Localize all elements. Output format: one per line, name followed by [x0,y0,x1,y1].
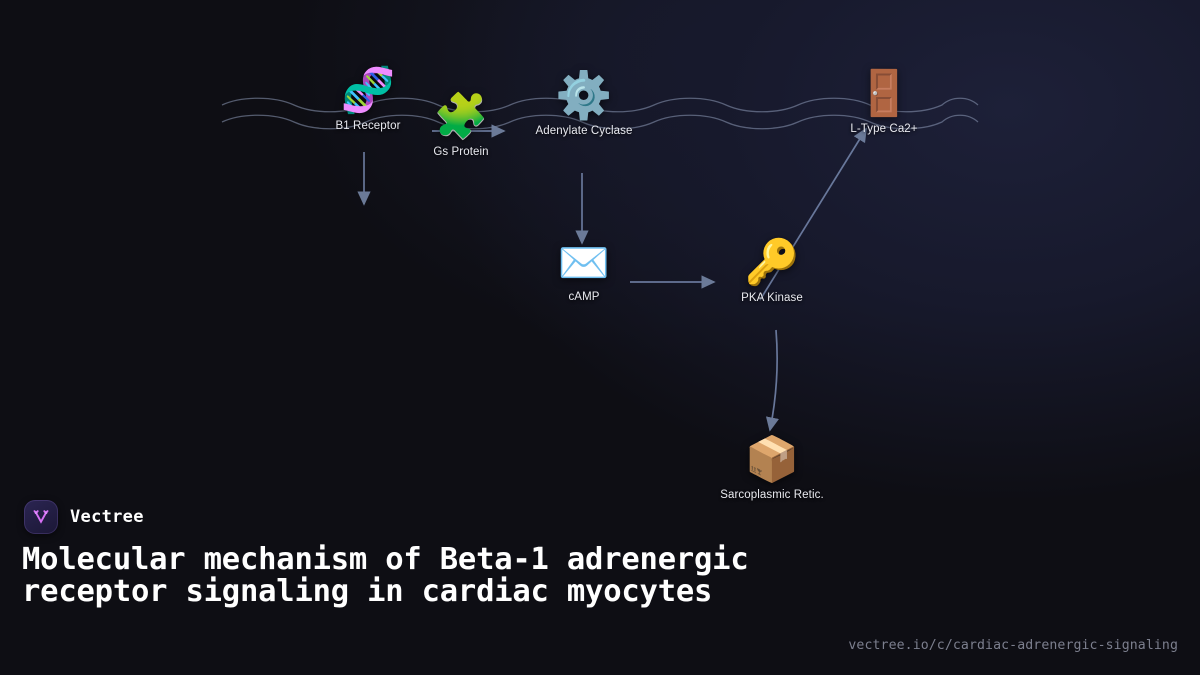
diagram-canvas-root: 🧬B1 Receptor🧩Gs Protein⚙️Adenylate Cycla… [0,0,1200,675]
source-url: vectree.io/c/cardiac-adrenergic-signalin… [848,638,1178,653]
vectree-v-logo-icon [24,500,58,534]
door-icon: 🚪 [819,72,949,116]
node-label: PKA Kinase [707,292,837,304]
brand[interactable]: Vectree [24,500,144,534]
package-icon: 📦 [707,438,837,482]
node-label: Gs Protein [396,146,526,158]
node-gs-protein[interactable]: 🧩Gs Protein [396,95,526,158]
node-label: Adenylate Cyclase [519,125,649,137]
key-icon: 🔑 [707,241,837,285]
footer: Vectree Molecular mechanism of Beta-1 ad… [0,500,1200,675]
node-adenylate-cyclase[interactable]: ⚙️Adenylate Cyclase [519,72,649,137]
node-sarcoplasmic-retic[interactable]: 📦Sarcoplasmic Retic. [707,438,837,501]
node-label: L-Type Ca2+ [819,123,949,135]
node-pka-kinase[interactable]: 🔑PKA Kinase [707,241,837,304]
gear-icon: ⚙️ [519,72,649,118]
brand-name: Vectree [70,507,144,527]
node-l-type-ca2[interactable]: 🚪L-Type Ca2+ [819,72,949,135]
edge-pka-to-sarcoplasmic [770,330,777,430]
page-title: Molecular mechanism of Beta-1 adrenergic… [22,544,782,609]
puzzle-icon: 🧩 [396,95,526,139]
envelope-icon: ✉️ [519,242,649,284]
node-label: cAMP [519,291,649,303]
node-camp[interactable]: ✉️cAMP [519,242,649,303]
